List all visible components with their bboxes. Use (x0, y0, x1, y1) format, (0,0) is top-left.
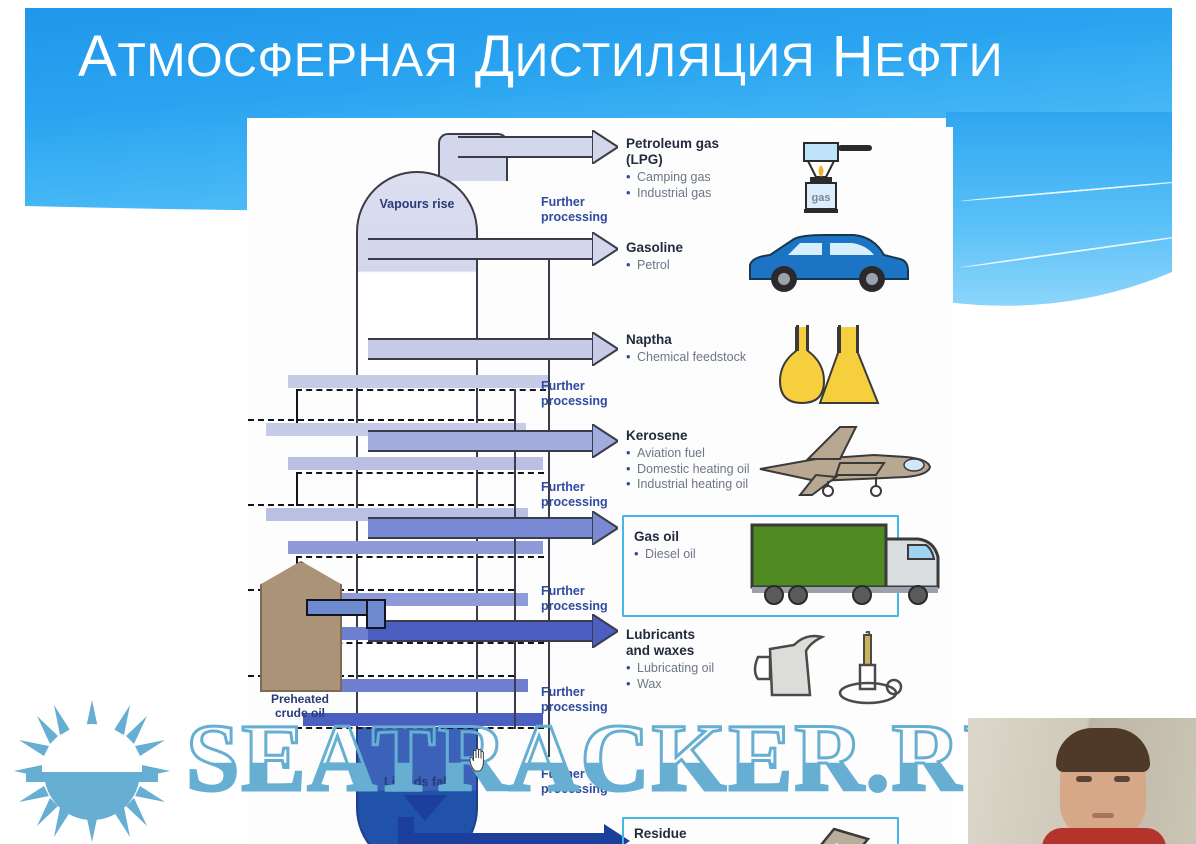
flasks-icon (776, 325, 886, 407)
fraction-arrow-kerosene (368, 424, 618, 458)
tray-plate (296, 389, 546, 391)
presenter-hair (1056, 728, 1150, 772)
tray-plate (248, 419, 514, 421)
further-processing-label: Furtherprocessing (541, 685, 631, 715)
presenter-eye-left (1076, 776, 1092, 782)
further-processing-label: Furtherprocessing (541, 767, 631, 797)
vapours-rise-label: Vapours rise (360, 197, 474, 211)
fraction-arrow-gasoline (368, 232, 618, 266)
presenter-mouth (1092, 813, 1114, 818)
fraction-arrow-gas-oil (368, 511, 618, 545)
residue-pipe-horizontal (398, 833, 608, 844)
further-processing-label: Furtherprocessing (541, 195, 631, 225)
presenter-shirt (1042, 828, 1166, 844)
further-processing-label: Furtherprocessing (541, 480, 631, 510)
liquids-fall-label: Liquids fall (360, 775, 474, 789)
road-icon (772, 827, 892, 844)
presenter-eye-right (1114, 776, 1130, 782)
airplane-icon (756, 425, 934, 505)
liquid-waves-icon (356, 727, 478, 748)
tray-riser (296, 389, 298, 423)
svg-text:gas: gas (812, 192, 831, 204)
camping-stove-icon: gas (788, 139, 876, 217)
sun-burst-logo (12, 698, 172, 844)
tray-riser (296, 472, 298, 506)
tray-plate (296, 727, 544, 729)
preheated-crude-oil-label: Preheatedcrude oil (252, 692, 348, 720)
distillation-diagram: Vapours rise Liquids fall (248, 127, 953, 844)
fraction-arrow-petroleum-gas (458, 130, 618, 164)
truck-icon (748, 521, 944, 605)
fraction-arrow-naptha (368, 332, 618, 366)
hand-cursor (468, 748, 490, 772)
page-title: АТМОСФЕРНАЯ ДИСТИЛЯЦИЯ НЕФТИ (78, 22, 1138, 95)
preheated-crude-furnace (260, 561, 342, 692)
slide-canvas: АТМОСФЕРНАЯ ДИСТИЛЯЦИЯ НЕФТИ Vapours ris… (0, 0, 1196, 844)
draw-off-band (288, 457, 543, 470)
tray-plate (296, 472, 544, 474)
further-processing-label: Furtherprocessing (541, 379, 631, 409)
car-icon (742, 231, 912, 297)
decorative-block-fill (946, 112, 1172, 310)
presenter-webcam-video[interactable] (968, 718, 1196, 844)
further-processing-label: Furtherprocessing (541, 584, 631, 614)
feed-pipe-elbow (366, 599, 386, 629)
tray-plate (296, 556, 544, 558)
oil-can-candle-icon (748, 631, 908, 709)
tray-plate (248, 504, 514, 506)
fraction-arrow-lubricants (368, 614, 618, 648)
decorative-blue-block (946, 112, 1172, 310)
draw-off-band (288, 375, 548, 388)
